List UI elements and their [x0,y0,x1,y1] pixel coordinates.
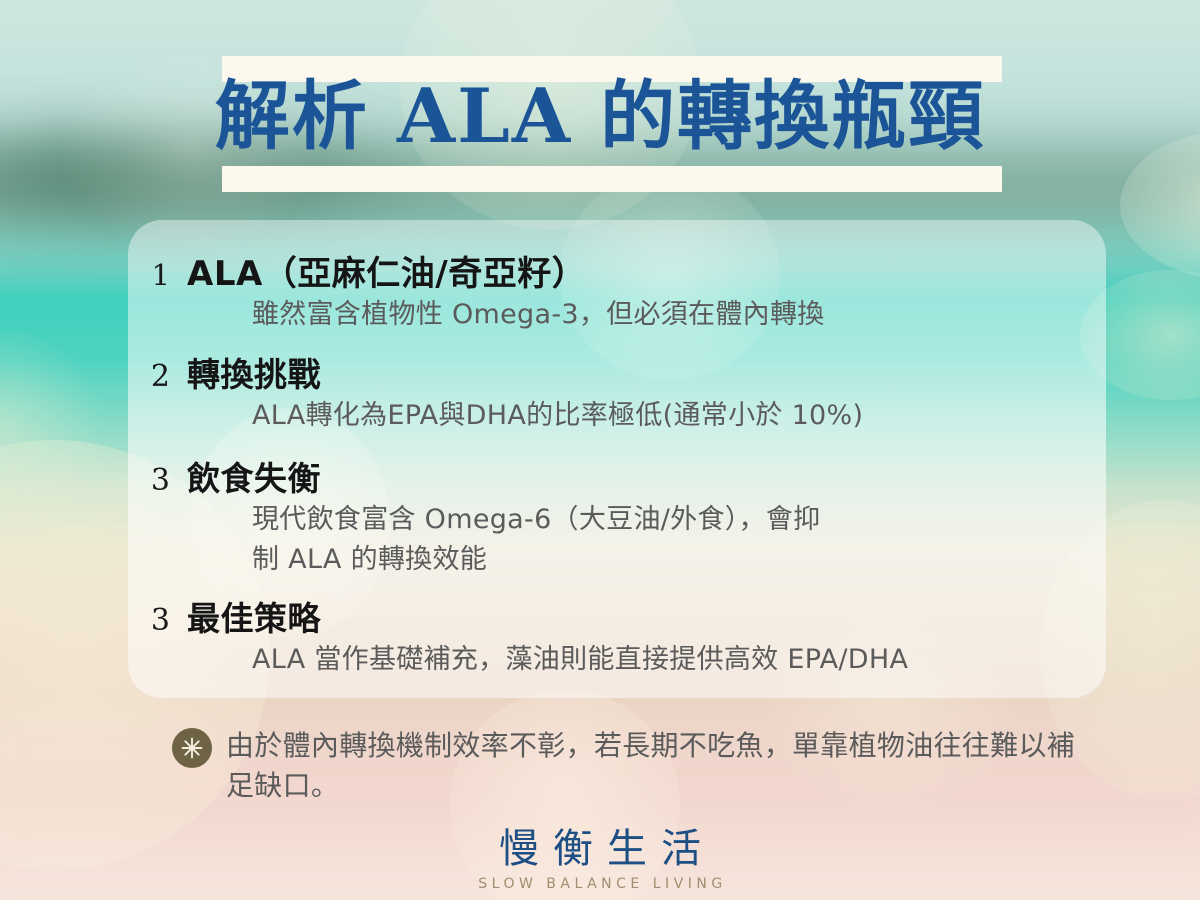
brand-logo: 慢衡生活 SLOW BALANCE LIVING [0,826,1200,894]
list-item-heading: ALA（亞麻仁油/奇亞籽） [187,246,586,295]
list-item-number: 3 [128,463,170,498]
list-item-heading: 轉換挑戰 [187,348,321,396]
list-item-head: 3 最佳策略 [128,592,908,640]
list-item-description: 現代飲食富含 Omega-6（大豆油/外食），會抑 制 ALA 的轉換效能 [252,500,820,580]
list-item: 1 ALA（亞麻仁油/奇亞籽） 雖然富含植物性 Omega-3，但必須在體內轉換 [128,246,825,335]
slide-canvas: 解析 ALA 的轉換瓶頸 1 ALA（亞麻仁油/奇亞籽） 雖然富含植物性 Ome… [0,0,1200,900]
content-card: 1 ALA（亞麻仁油/奇亞籽） 雖然富含植物性 Omega-3，但必須在體內轉換… [128,220,1106,698]
list-item-number: 1 [128,258,170,292]
logo-chinese: 慢衡生活 [0,826,1200,872]
list-item: 3 最佳策略 ALA 當作基礎補充，藻油則能直接提供高效 EPA/DHA [128,592,908,680]
footnote: 由於體內轉換機制效率不彰，若長期不吃魚，單靠植物油往往難以補足缺口。 [172,726,1092,806]
page-title: 解析 ALA 的轉換瓶頸 [0,70,1200,162]
list-item-head: 1 ALA（亞麻仁油/奇亞籽） [128,246,825,295]
list-item-description: ALA轉化為EPA與DHA的比率極低(通常小於 10%) [252,396,863,436]
list-item-description: 雖然富含植物性 Omega-3，但必須在體內轉換 [252,295,825,335]
title-bar-bottom [222,166,1002,192]
list-item-heading: 最佳策略 [187,592,321,640]
list-item: 2 轉換挑戰 ALA轉化為EPA與DHA的比率極低(通常小於 10%) [128,348,863,436]
footnote-text: 由於體內轉換機制效率不彰，若長期不吃魚，單靠植物油往往難以補足缺口。 [226,726,1092,806]
asterisk-icon [172,728,212,768]
list-item-number: 3 [128,603,170,638]
list-item-head: 2 轉換挑戰 [128,348,863,396]
list-item-head: 3 飲食失衡 [128,452,820,500]
logo-english: SLOW BALANCE LIVING [0,874,1200,894]
list-item-number: 2 [128,359,170,394]
bokeh-circle [0,330,110,530]
list-item-description: ALA 當作基礎補充，藻油則能直接提供高效 EPA/DHA [252,640,908,680]
list-item: 3 飲食失衡 現代飲食富含 Omega-6（大豆油/外食），會抑 制 ALA 的… [128,452,820,580]
list-item-heading: 飲食失衡 [187,452,321,500]
